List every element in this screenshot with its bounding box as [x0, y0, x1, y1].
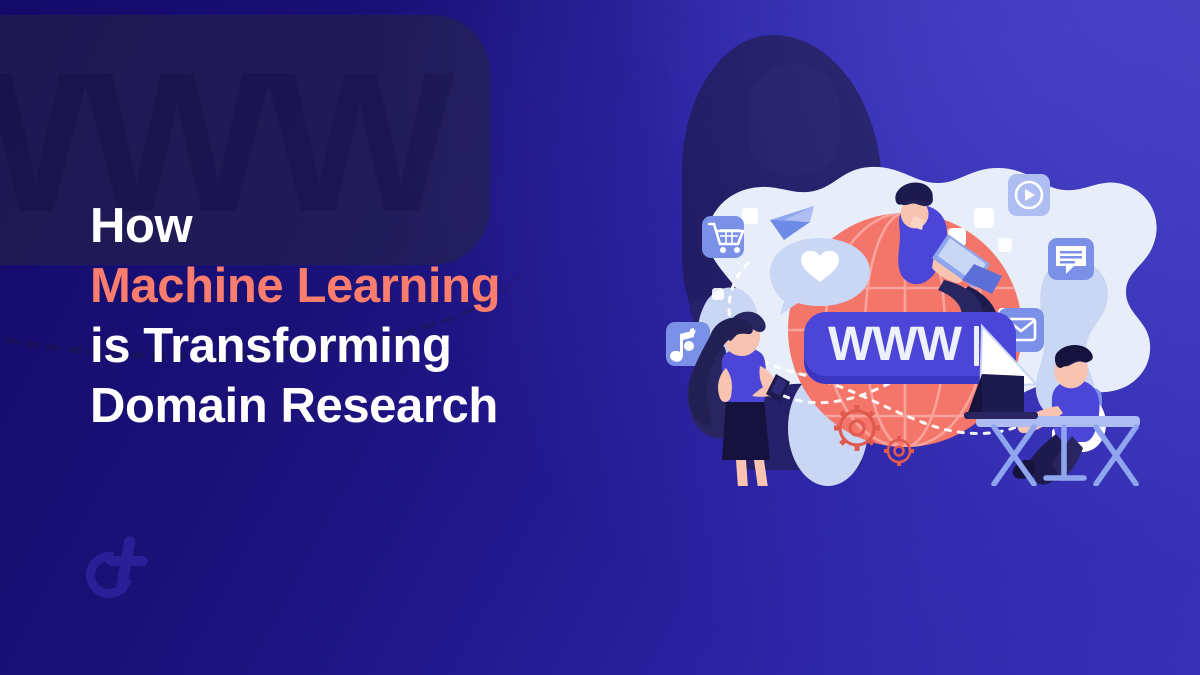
shopping-cart-icon	[702, 216, 744, 258]
page-title: How Machine Learning is Transforming Dom…	[90, 196, 650, 436]
banner-canvas: WWW How Machine Learning is Transforming…	[0, 0, 1200, 675]
search-bar-text: WWW	[828, 318, 963, 371]
headline-line-4: Domain Research	[90, 376, 650, 436]
logo-t-crossbar	[106, 556, 148, 566]
chat-bubble-icon	[1048, 238, 1094, 280]
ct-monogram-logo	[86, 536, 148, 604]
text-caret-icon	[974, 326, 979, 366]
play-button-icon	[1008, 174, 1050, 216]
domain-research-www-illustration: WWW	[652, 160, 1164, 492]
deco-square-6	[998, 238, 1012, 252]
headline-line-2-accent: Machine Learning	[90, 256, 650, 316]
deco-square-3	[974, 208, 994, 228]
headline-line-3: is Transforming	[90, 316, 650, 376]
deco-square-2	[742, 208, 758, 224]
watermark-head	[748, 63, 840, 175]
deco-square-1	[712, 288, 724, 300]
headline-line-1: How	[90, 196, 650, 256]
